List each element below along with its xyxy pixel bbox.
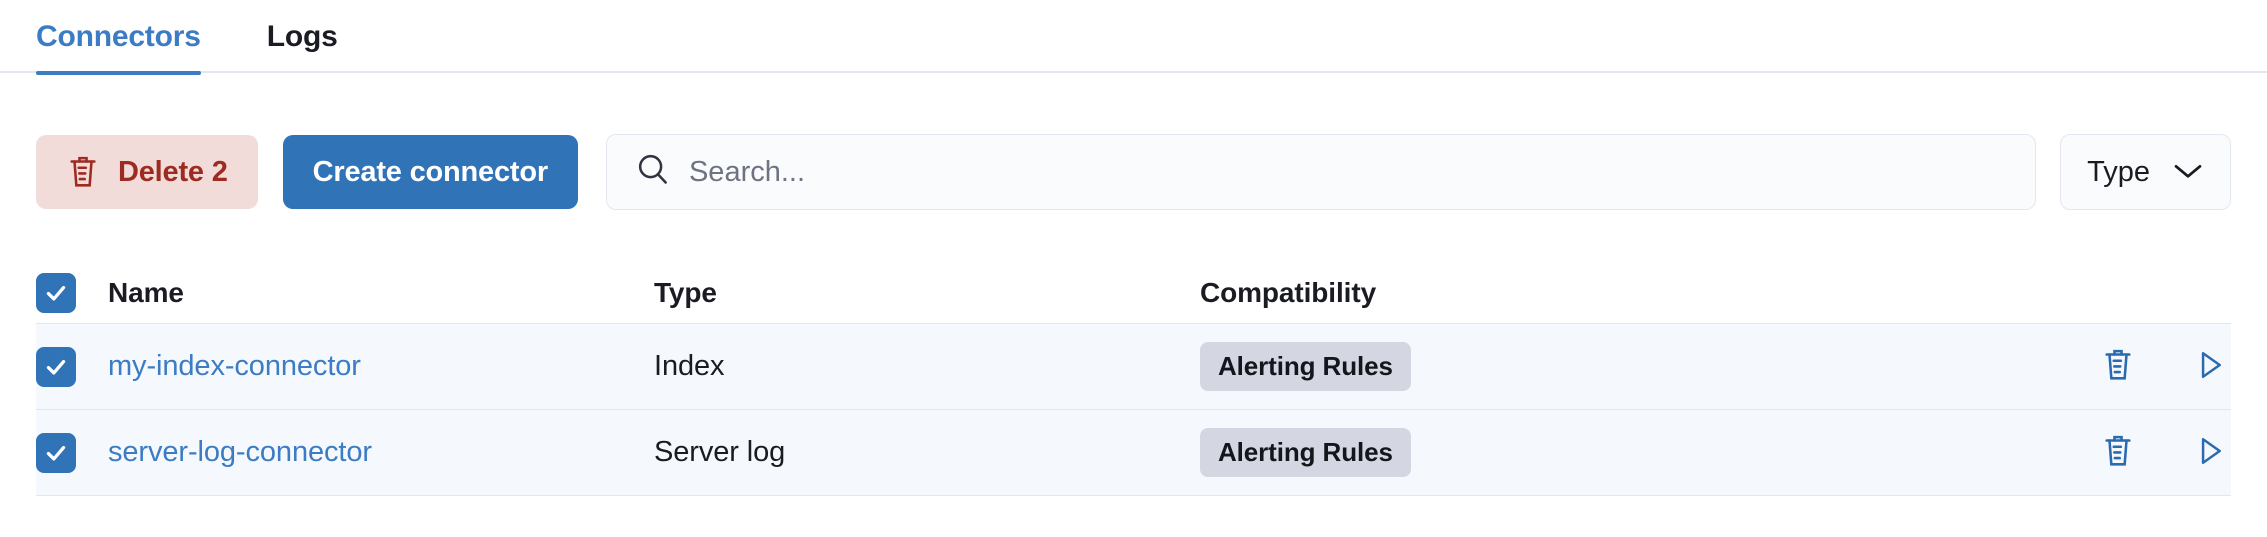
cell-compatibility: Alerting Rules <box>1200 428 2031 477</box>
delete-button[interactable]: Delete 2 <box>36 135 258 209</box>
tab-logs[interactable]: Logs <box>267 0 338 73</box>
search-input[interactable] <box>606 134 2036 210</box>
row-delete-button[interactable] <box>2101 346 2135 387</box>
column-header-name: Name <box>108 277 654 309</box>
row-select-cell <box>36 433 108 473</box>
row-delete-button[interactable] <box>2101 432 2135 473</box>
row-checkbox[interactable] <box>36 347 76 387</box>
cell-type: Server log <box>654 436 1200 469</box>
column-header-type: Type <box>654 277 1200 309</box>
cell-compatibility: Alerting Rules <box>1200 342 2031 391</box>
row-checkbox[interactable] <box>36 433 76 473</box>
connectors-table: Name Type Compatibility my-index-connect… <box>36 262 2231 496</box>
cell-actions <box>2031 432 2231 473</box>
connectors-page: Connectors Logs Delete 2 Create connecto… <box>0 0 2267 537</box>
type-filter-label: Type <box>2087 156 2150 189</box>
check-icon <box>43 354 69 380</box>
table-header-row: Name Type Compatibility <box>36 262 2231 324</box>
connector-name-link[interactable]: server-log-connector <box>108 436 372 468</box>
row-select-cell <box>36 347 108 387</box>
delete-icon <box>2101 346 2135 387</box>
toolbar: Delete 2 Create connector Type <box>0 128 2267 216</box>
row-run-button[interactable] <box>2193 347 2227 386</box>
create-connector-button[interactable]: Create connector <box>283 135 578 209</box>
connector-name-link[interactable]: my-index-connector <box>108 350 361 382</box>
tab-bar: Connectors Logs <box>0 0 2267 73</box>
run-icon <box>2193 433 2227 472</box>
column-header-compatibility: Compatibility <box>1200 277 2031 309</box>
run-icon <box>2193 347 2227 386</box>
select-all-cell <box>36 273 108 313</box>
row-run-button[interactable] <box>2193 433 2227 472</box>
trash-icon <box>66 153 100 191</box>
compatibility-badge: Alerting Rules <box>1200 342 1411 391</box>
cell-type: Index <box>654 350 1200 383</box>
cell-actions <box>2031 346 2231 387</box>
check-icon <box>43 280 69 306</box>
delete-button-label: Delete 2 <box>118 156 228 189</box>
search-field <box>606 134 2036 210</box>
type-filter-dropdown[interactable]: Type <box>2060 134 2231 210</box>
chevron-down-icon <box>2172 156 2204 189</box>
compatibility-badge: Alerting Rules <box>1200 428 1411 477</box>
select-all-checkbox[interactable] <box>36 273 76 313</box>
cell-name: my-index-connector <box>108 350 654 383</box>
check-icon <box>43 440 69 466</box>
tab-connectors[interactable]: Connectors <box>36 0 201 73</box>
cell-name: server-log-connector <box>108 436 654 469</box>
table-row[interactable]: server-log-connector Server log Alerting… <box>36 410 2231 496</box>
delete-icon <box>2101 432 2135 473</box>
table-row[interactable]: my-index-connector Index Alerting Rules <box>36 324 2231 410</box>
